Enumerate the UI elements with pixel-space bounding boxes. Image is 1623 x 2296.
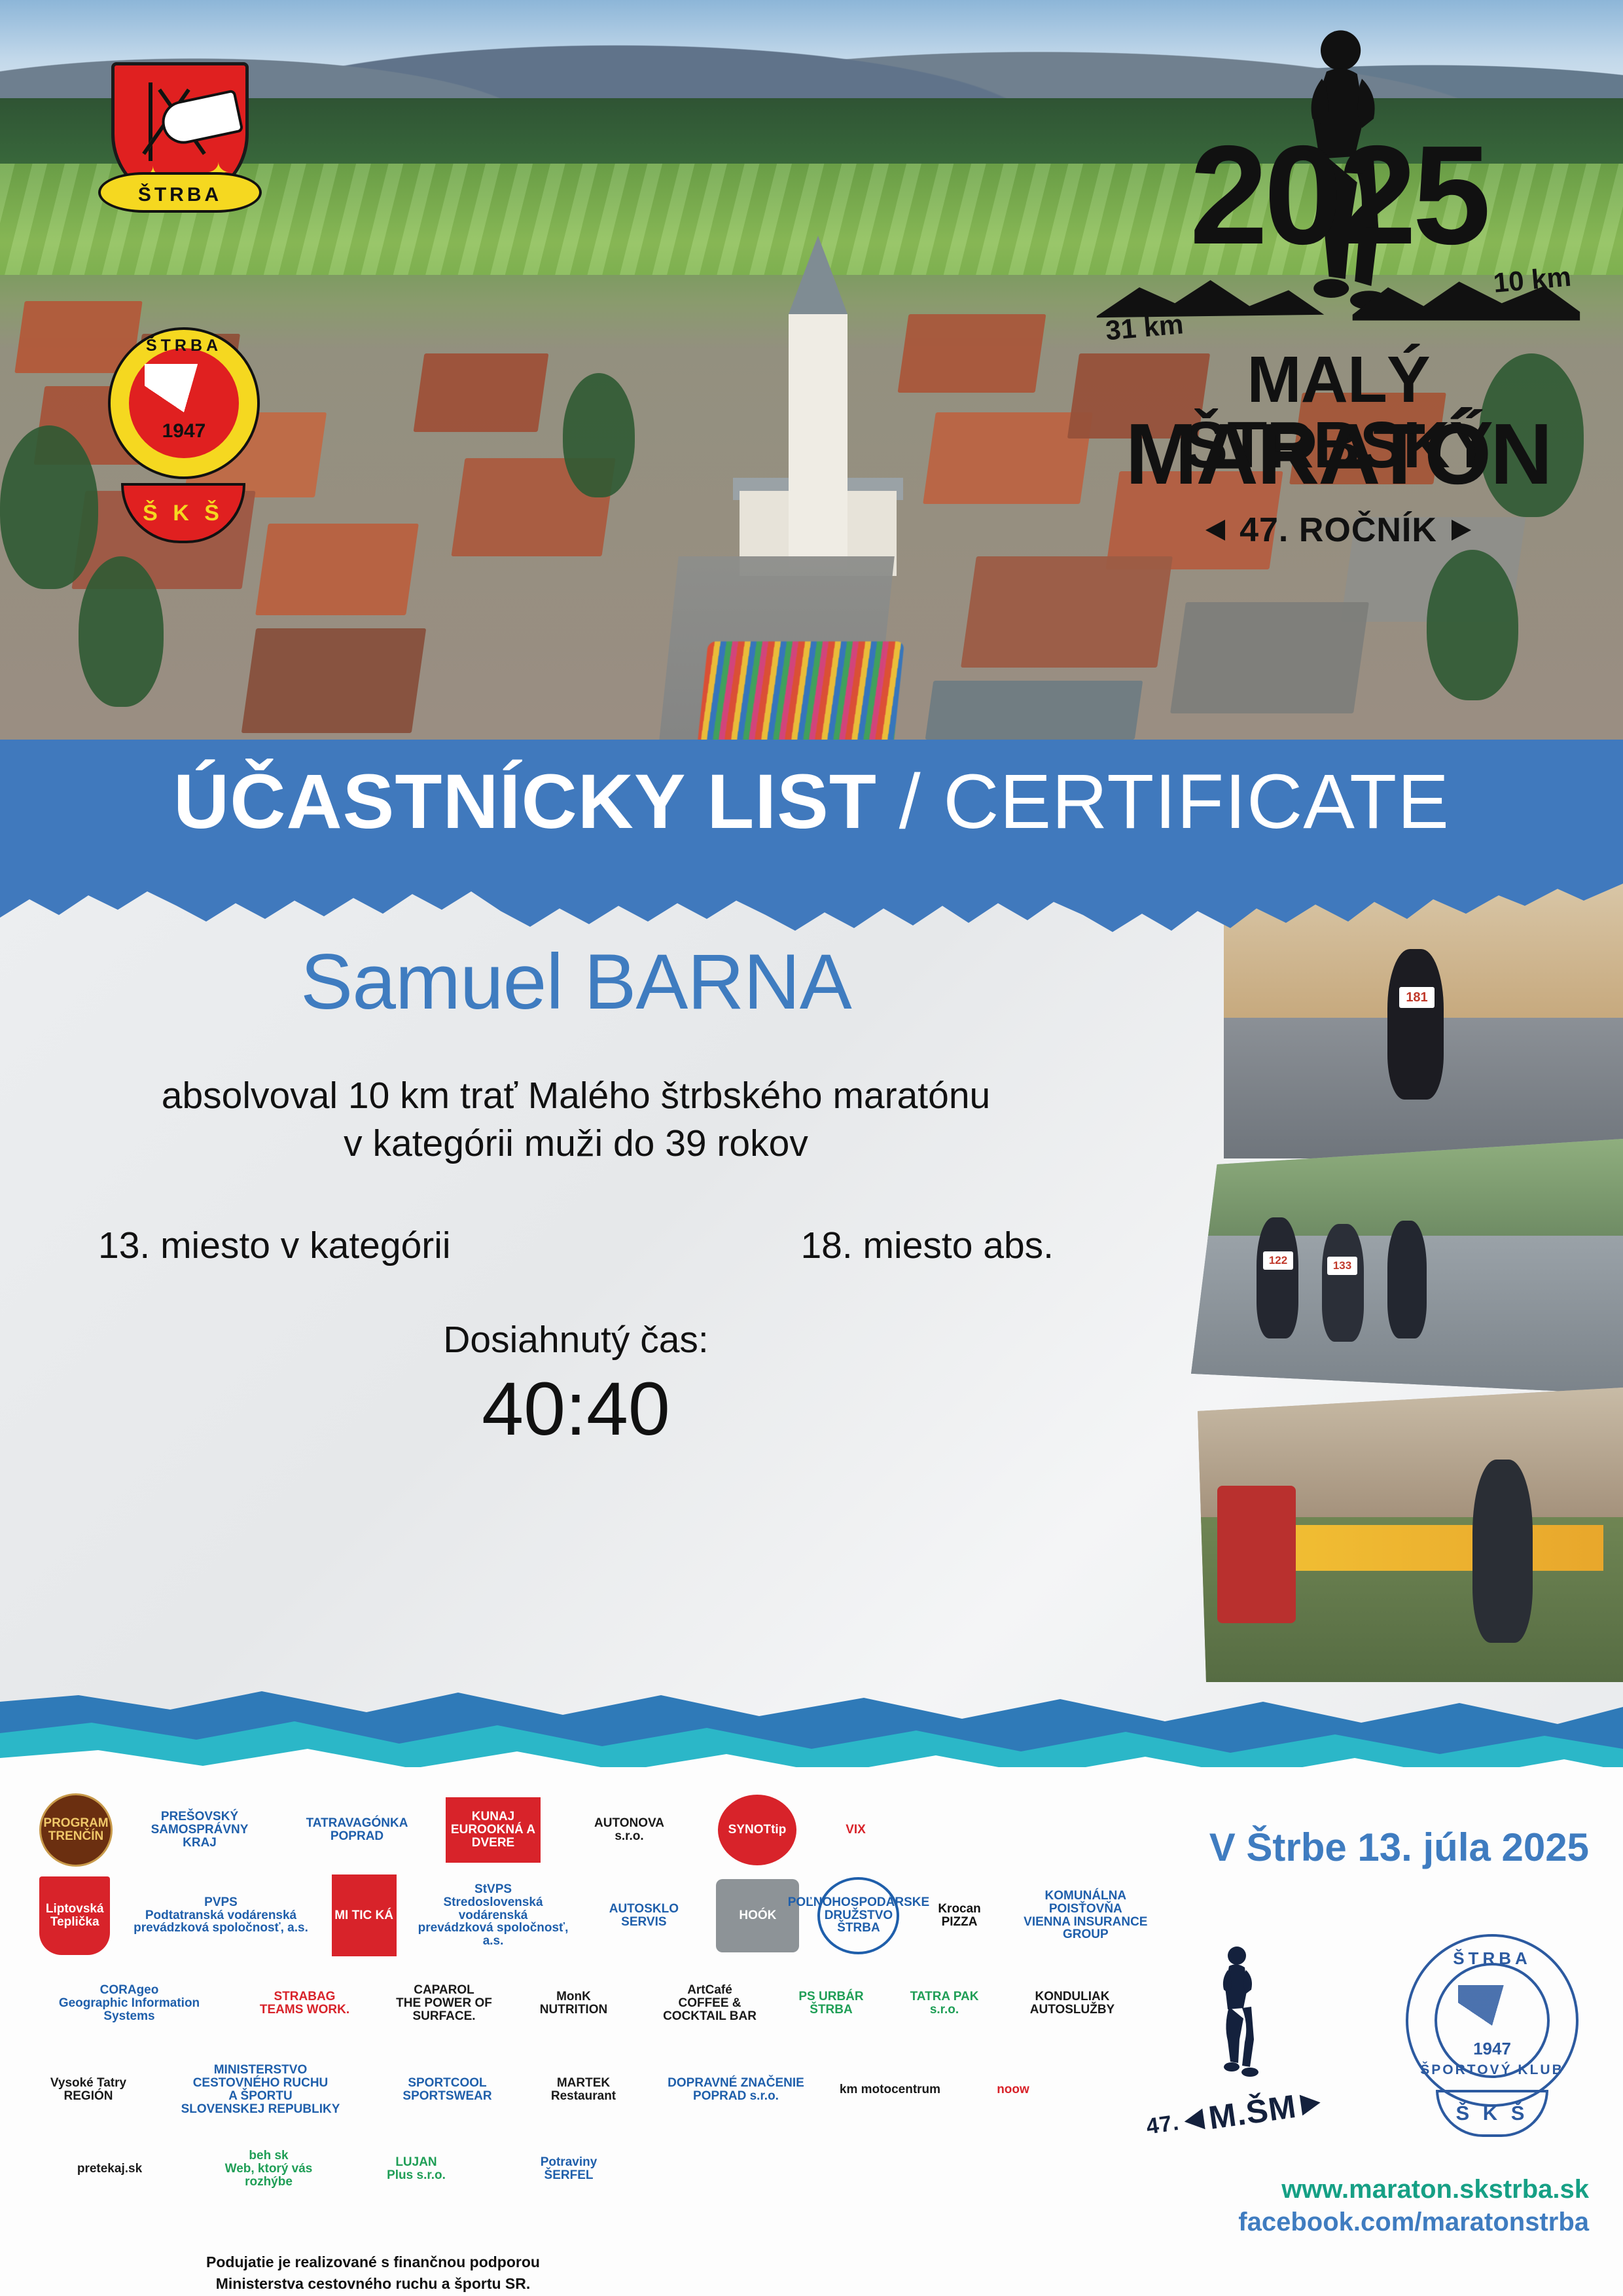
sks-top-label: ŠTRBA	[1394, 1948, 1590, 1969]
club-top-text: ŠTRBA	[101, 336, 266, 487]
sponsor-row: PROGRAM TRENČÍNPREŠOVSKÝ SAMOSPRÁVNY KRA…	[39, 1793, 1152, 1867]
club-abbrev: Š K Š	[121, 483, 245, 543]
event-year: 2025	[1090, 137, 1587, 253]
sponsor-logo: PREŠOVSKÝ SAMOSPRÁVNY KRAJ	[131, 1796, 268, 1865]
sponsor-logo-grid: PROGRAM TRENČÍNPREŠOVSKÝ SAMOSPRÁVNY KRA…	[39, 1793, 1152, 2251]
certificate-content: Samuel BARNA absolvoval 10 km trať Maléh…	[0, 942, 1152, 1447]
disclaimer-line-1: Podujatie je realizované s finančnou pod…	[39, 2251, 707, 2273]
title-english: CERTIFICATE	[943, 759, 1450, 845]
issue-date: V Štrbe 13. júla 2025	[1209, 1825, 1589, 1870]
sponsor-logo: LUJAN Plus s.r.o.	[357, 2137, 475, 2201]
event-edition: 47. ROČNÍK	[1240, 511, 1437, 550]
crest-ribbon: ŠTRBA	[98, 172, 262, 213]
arrow-left-icon	[1205, 520, 1225, 541]
achievement-line-1: absolvoval 10 km trať Malého štrbského m…	[0, 1072, 1152, 1120]
sponsor-logo: pretekaj.sk	[39, 2140, 180, 2198]
sponsor-logo: noow	[964, 2059, 1062, 2121]
sponsor-logo: KONDULIAK AUTOSLUŽBY	[1015, 1973, 1130, 2035]
sponsor-logo: HOÓK	[716, 1879, 799, 1952]
page-title: ÚČASTNÍCKY LIST / CERTIFICATE	[173, 763, 1450, 840]
sponsor-logo: SYNOTtip	[718, 1795, 796, 1865]
collage-photo-3	[1198, 1388, 1623, 1682]
sponsor-logo: PVPS Podtatranská vodárenská prevádzková…	[128, 1880, 313, 1952]
runner-crowd	[679, 641, 904, 740]
participant-name: Samuel BARNA	[0, 942, 1152, 1021]
contact-links: www.maraton.skstrba.sk facebook.com/mara…	[1238, 2173, 1589, 2238]
sponsor-logo: SPORTCOOL SPORTSWEAR	[383, 2057, 511, 2123]
sponsor-logo: CAPAROL THE POWER OF SURFACE.	[390, 1967, 498, 2040]
place-in-category: 13. miesto v kategórii	[98, 1224, 451, 1267]
sponsor-logo: TATRA PAK s.r.o.	[892, 1973, 997, 2035]
msm-abbrev: M.ŠM	[1206, 2087, 1298, 2137]
title-slovak: ÚČASTNÍCKY LIST	[173, 759, 877, 845]
sponsor-logo: Vysoké Tatry REGIÓN	[39, 2051, 137, 2129]
sponsor-logo: DOPRAVNÉ ZNAČENIE POPRAD s.r.o.	[656, 2059, 816, 2121]
sponsor-logo: MINISTERSTVO CESTOVNÉHO RUCHU A ŠPORTU S…	[156, 2053, 365, 2128]
sponsor-logo: PROGRAM TRENČÍN	[39, 1793, 113, 1867]
sponsor-logo: Liptovská Teplička	[39, 1876, 110, 1955]
sponsor-logo: AUTOSKLO SERVIS	[590, 1883, 698, 1948]
arrow-left-icon	[1183, 2109, 1205, 2132]
certificate-title-band: ÚČASTNÍCKY LIST / CERTIFICATE	[0, 740, 1623, 864]
collage-photo-2: 122 133	[1191, 1139, 1623, 1394]
sponsor-row: pretekaj.skbeh sk Web, ktorý vás rozhýbe…	[39, 2137, 1152, 2201]
finish-time: 40:40	[0, 1372, 1152, 1447]
sks-strba-club-icon: 1947 ŠTRBA Š K Š	[101, 327, 265, 543]
time-label: Dosiahnutý čas:	[0, 1318, 1152, 1361]
event-edition-row: 47. ROČNÍK	[1090, 511, 1587, 550]
sponsor-logo: MARTEK Restaurant	[529, 2051, 637, 2129]
sponsor-logo: KUNAJ EUROOKNÁ A DVERE	[446, 1797, 541, 1863]
arrow-right-icon	[1452, 520, 1471, 541]
title-separator: /	[877, 759, 943, 845]
crest-arm-icon	[158, 89, 243, 148]
msm-label-row: 47. M.ŠM	[1143, 2083, 1323, 2145]
arrow-right-icon	[1300, 2092, 1322, 2115]
sponsor-row: Vysoké Tatry REGIÓNMINISTERSTVO CESTOVNÉ…	[39, 2051, 1152, 2129]
sponsor-logo: POĽNOHOSPODÁRSKE DRUŽSTVO ŠTRBA	[817, 1877, 899, 1954]
photo-collage: 181 122 133	[1191, 877, 1623, 1682]
sponsor-logo: KOMUNÁLNA POISŤOVŇA VIENNA INSURANCE GRO…	[1020, 1881, 1152, 1950]
church-tower	[789, 314, 847, 569]
sponsor-row: CORAgeo Geographic Information SystemsST…	[39, 1964, 1152, 2043]
sponsor-logo: CORAgeo Geographic Information Systems	[39, 1969, 219, 2038]
msm-runner-silhouette	[1198, 1944, 1276, 2085]
website-link[interactable]: www.maraton.skstrba.sk	[1238, 2173, 1589, 2206]
sks-strba-blue-icon: ŠTRBA 1947 ŠPORTOVÝ KLUB Š K Š	[1394, 1934, 1590, 2137]
strba-coat-of-arms-icon: ✦ ✦ ✦ ŠTRBA	[98, 62, 262, 232]
sponsor-logo: VIX	[815, 1795, 897, 1865]
sponsor-logo: MI TIC KÁ	[332, 1874, 397, 1956]
sponsor-row: Liptovská TepličkaPVPS Podtatranská vodá…	[39, 1874, 1152, 1956]
race-bib: 122	[1263, 1251, 1293, 1270]
hero-aerial-photo: ŠTART ✦ ✦ ✦ ŠTRBA 1947	[0, 0, 1623, 740]
certificate-page: ŠTART ✦ ✦ ✦ ŠTRBA 1947	[0, 0, 1623, 2296]
sponsor-logo: MonK NUTRITION	[516, 1969, 631, 2038]
sponsor-logo: STRABAG TEAMS WORK.	[238, 1969, 372, 2038]
sponsor-logo: StVPS Stredoslovenská vodárenská prevádz…	[415, 1880, 572, 1952]
sks-abbrev-label: Š K Š	[1436, 2090, 1548, 2137]
sponsor-logo: Krocan PIZZA	[918, 1877, 1001, 1954]
sks-mid-label: ŠPORTOVÝ KLUB	[1394, 2062, 1590, 2078]
achievement-line-2: v kategórii muži do 39 rokov	[0, 1120, 1152, 1168]
distance-31km: 31 km	[1104, 308, 1185, 346]
sponsor-logo: PS URBÁR ŠTRBA	[789, 1964, 874, 2043]
disclaimer-line-2: Ministerstva cestovného ruchu a športu S…	[39, 2273, 707, 2295]
facebook-link[interactable]: facebook.com/maratonstrba	[1238, 2206, 1589, 2238]
sponsor-logo: ArtCafé COFFEE & COCKTAIL BAR	[649, 1967, 770, 2040]
place-absolute: 18. miesto abs.	[800, 1224, 1054, 1267]
msm-runner-icon: 47. M.ŠM	[1145, 1944, 1322, 2134]
crest-municipality-label: ŠTRBA	[138, 184, 222, 210]
placement-row: 13. miesto v kategórii 18. miesto abs.	[0, 1224, 1152, 1267]
race-bib: 181	[1399, 987, 1435, 1008]
sponsor-logo: TATRAVAGÓNKA POPRAD	[287, 1797, 427, 1863]
funding-disclaimer: Podujatie je realizované s finančnou pod…	[39, 2251, 707, 2296]
band-jagged-edge	[0, 863, 1623, 941]
race-bib: 133	[1327, 1257, 1357, 1275]
event-title-line2: MARATÓN	[1090, 411, 1587, 497]
sponsor-logo: beh sk Web, ktorý vás rozhýbe	[198, 2140, 339, 2198]
msm-edition: 47.	[1145, 2109, 1181, 2140]
sponsor-logo: Potraviny ŠERFEL	[493, 2137, 644, 2201]
marathon-brand-block: 2025 31 km 10 km MALÝ ŠTRBSKÝ MARATÓN 47…	[1090, 26, 1587, 576]
mountain-peaks-icon	[1458, 1985, 1526, 2026]
footer-right-block: V Štrbe 13. júla 2025 47. M.ŠM	[1139, 1793, 1597, 2265]
sks-year-label: 1947	[1394, 2039, 1590, 2059]
sponsor-logo: km motocentrum	[834, 2057, 946, 2123]
sponsor-logo: AUTONOVA s.r.o.	[559, 1797, 700, 1863]
sponsor-footer: PROGRAM TRENČÍNPREŠOVSKÝ SAMOSPRÁVNY KRA…	[0, 1767, 1623, 2296]
